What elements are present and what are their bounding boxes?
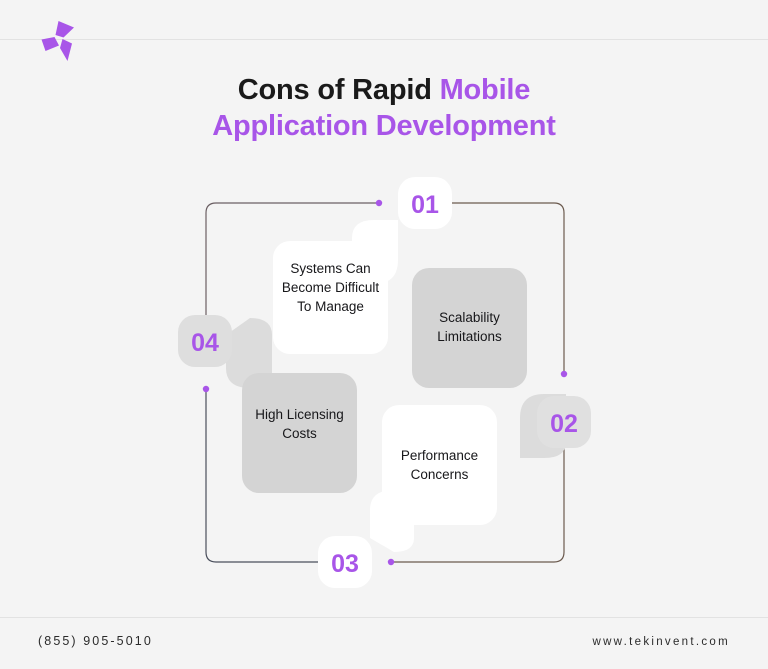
process-flow-diagram: 01 02 03 04 Systems Can Become Difficult… [0, 160, 768, 600]
title-line-2: Application Development [0, 108, 768, 144]
step-03-label: Performance Concerns [386, 446, 493, 484]
step-01-number: 01 [398, 191, 452, 220]
tekinvent-pinwheel-logo-icon [38, 18, 82, 64]
footer-phone: (855) 905-5010 [38, 634, 153, 648]
title-accent-line: Application Development [212, 110, 555, 142]
step-03-number: 03 [318, 550, 372, 579]
step-01-label: Systems Can Become Difficult To Manage [277, 259, 384, 316]
page-header [0, 0, 768, 40]
connector-dot-03 [388, 559, 394, 565]
footer-divider [0, 617, 768, 618]
title-accent-word: Mobile [440, 74, 531, 106]
title-line-1: Cons of Rapid Mobile [0, 72, 768, 108]
connector-dot-04 [203, 386, 209, 392]
step-02-number: 02 [537, 410, 591, 439]
connector-dot-02 [561, 371, 567, 377]
page-title: Cons of Rapid Mobile Application Develop… [0, 72, 768, 144]
step-04-number: 04 [178, 329, 232, 358]
step-02-label: Scalability Limitations [416, 308, 523, 346]
header-divider [0, 39, 768, 40]
footer-website: www.tekinvent.com [592, 636, 730, 648]
step-04-label: High Licensing Costs [252, 405, 347, 443]
connector-dot-01 [376, 200, 382, 206]
title-plain-text: Cons of Rapid [238, 74, 440, 106]
